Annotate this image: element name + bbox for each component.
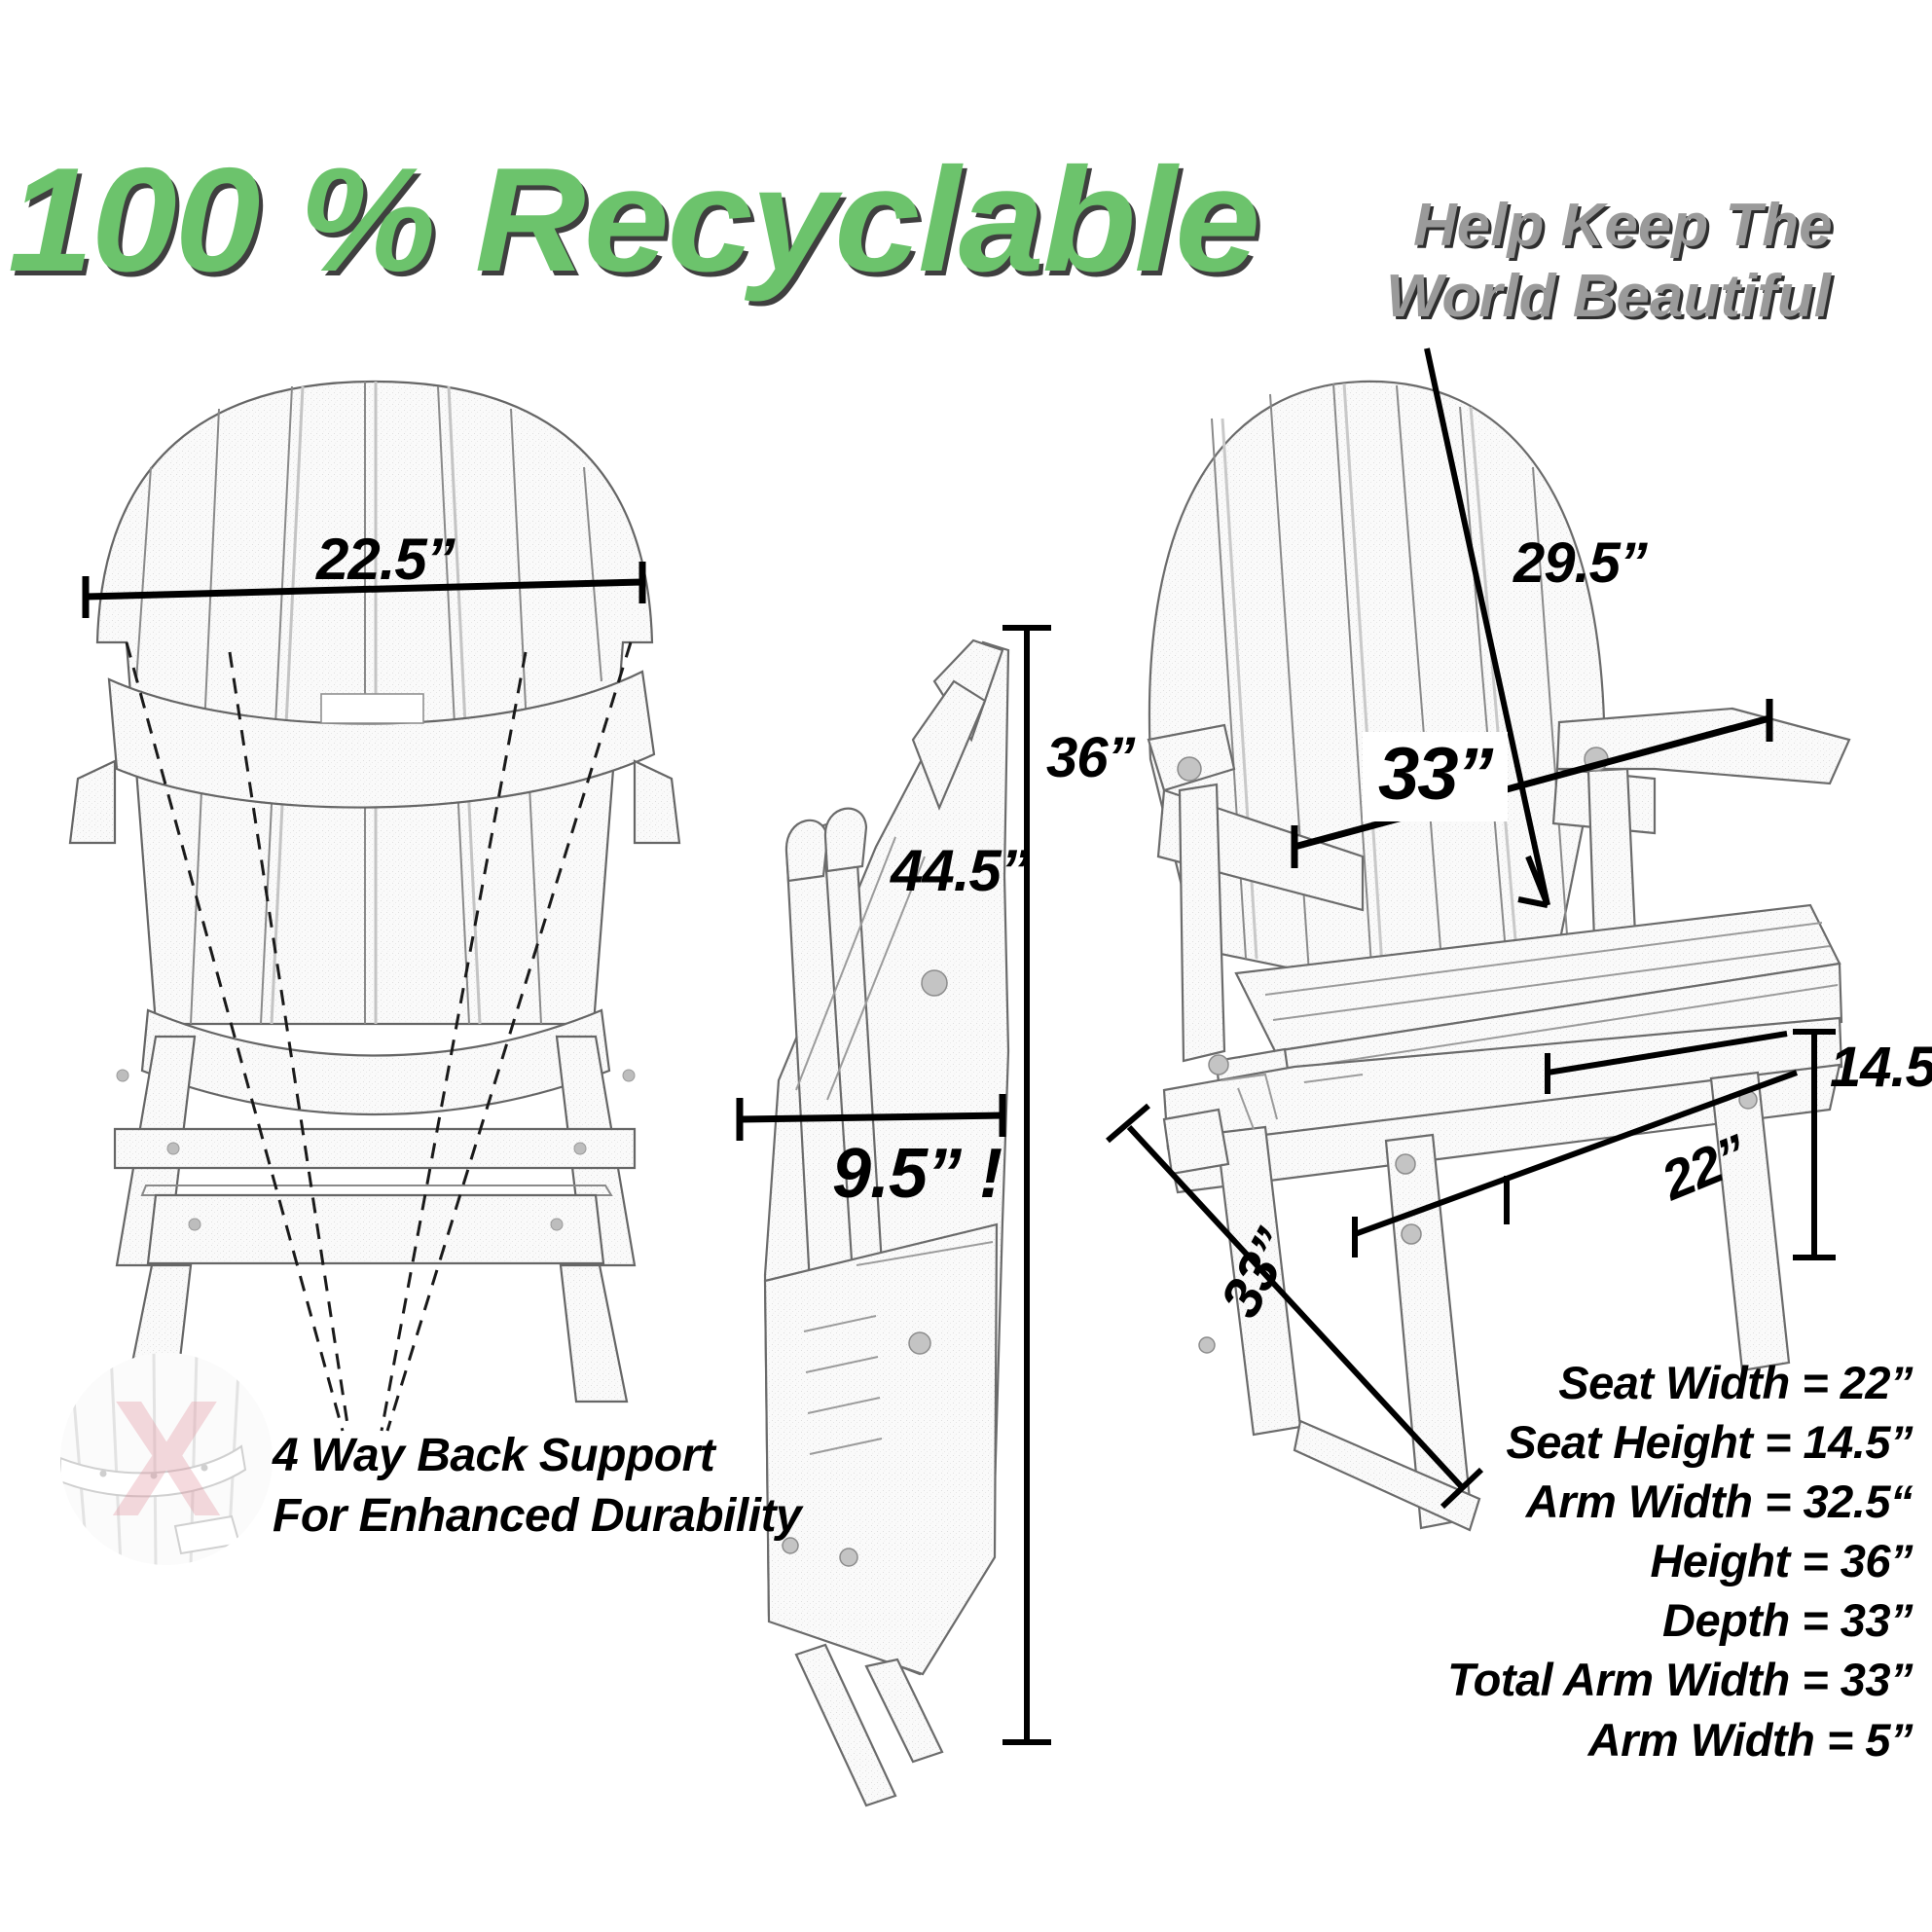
- dimension-line-back-height: [1427, 348, 1548, 905]
- dimension-label-total-arm-width: 33”: [1363, 732, 1508, 821]
- heading-help-keep-world-beautiful: Help Keep The World Beautiful: [1413, 190, 1833, 332]
- dimension-label-depth: 33”: [1212, 1221, 1303, 1326]
- dimension-line-overall-height: [1002, 628, 1051, 1742]
- spec-item-seat-width: Seat Width = 22”: [1447, 1353, 1913, 1412]
- dimension-label-overall-height: 36”: [1046, 730, 1135, 786]
- four-way-support-caption: 4 Way Back Support For Enhanced Durabili…: [273, 1426, 801, 1548]
- dimension-label-back-width: 22.5”: [316, 530, 455, 589]
- back-support-inset-photo: X: [60, 1353, 273, 1565]
- diagram-canvas: 100 % Recyclable Help Keep The World Bea…: [0, 0, 1932, 1932]
- spec-item-total-arm-width: Total Arm Width = 33”: [1447, 1650, 1913, 1709]
- heading-help-line2: World Beautiful: [1386, 261, 1833, 332]
- caption-line-2: For Enhanced Durability: [273, 1486, 801, 1547]
- specification-list: Seat Width = 22” Seat Height = 14.5” Arm…: [1447, 1353, 1913, 1769]
- spec-item-height: Height = 36”: [1447, 1531, 1913, 1590]
- spec-item-depth: Depth = 33”: [1447, 1590, 1913, 1650]
- caption-line-1: 4 Way Back Support: [273, 1426, 801, 1486]
- dimension-label-back-height: 29.5”: [1513, 535, 1647, 592]
- dimension-label-folded-thickness: 9.5” !: [832, 1139, 1002, 1209]
- dimension-line-depth: [1108, 1106, 1481, 1507]
- spec-item-seat-height: Seat Height = 14.5”: [1447, 1412, 1913, 1472]
- heading-help-line1: Help Keep The: [1413, 192, 1833, 259]
- four-way-support-lines: [127, 642, 631, 1431]
- spec-item-arm-width: Arm Width = 32.5“: [1447, 1472, 1913, 1531]
- dimension-label-folded-height: 44.5”: [891, 842, 1029, 900]
- watermark-x: X: [111, 1376, 221, 1542]
- chair-folded-view: [765, 640, 1008, 1805]
- heading-recyclable: 100 % Recyclable: [8, 146, 1258, 294]
- dimension-label-seat-width: 22”: [1655, 1126, 1754, 1209]
- spec-item-arm-width-2: Arm Width = 5”: [1447, 1710, 1913, 1769]
- dimension-line-folded-thickness: [740, 1094, 1002, 1141]
- dimension-label-seat-height: 14.5: [1830, 1039, 1932, 1096]
